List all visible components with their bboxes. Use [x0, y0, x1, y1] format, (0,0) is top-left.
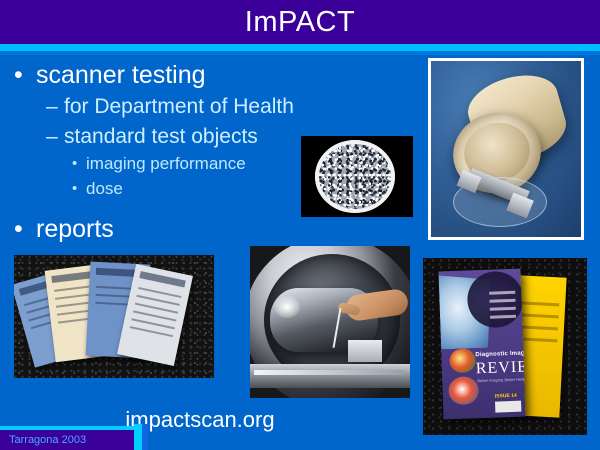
bullet-list: • scanner testing – for Department of He…	[0, 55, 330, 244]
ct-noise-image	[301, 136, 413, 217]
ct-noise-speckle	[319, 144, 391, 209]
bullet-label: scanner testing	[36, 61, 206, 89]
scanner-couch	[250, 364, 410, 388]
bullet-imaging-performance: • imaging performance	[0, 152, 330, 175]
magazine-logo-upper	[449, 348, 476, 373]
scanner-couch-rail	[254, 370, 404, 375]
bullet-dose: • dose	[0, 177, 330, 200]
bullet-for-department-of-health: – for Department of Health	[0, 93, 330, 120]
reports-documents-image	[14, 255, 214, 378]
ct-scanner-image	[250, 246, 410, 398]
bullet-label: reports	[36, 215, 114, 243]
magazine-cover-badge	[495, 401, 521, 413]
magazine-cover-title-large: REVIEW	[476, 358, 526, 377]
bullet-standard-test-objects: – standard test objects	[0, 123, 330, 150]
bullet-marker-icon: •	[14, 60, 23, 90]
dash-marker-icon: –	[46, 93, 58, 120]
bullet-marker-icon: •	[14, 214, 23, 244]
accent-band-cyan	[0, 44, 600, 51]
magazine-cover-subtitle: Better Imaging Better Health UK	[477, 376, 525, 383]
page-title: ImPACT	[0, 2, 600, 42]
scanner-specular-highlight	[274, 296, 300, 318]
magazine-cover-title-small: Diagnostic Imaging	[475, 350, 525, 358]
magazine-cover-issue: ISSUE 14	[495, 393, 517, 400]
report-header-block	[139, 271, 185, 287]
footer-accent-bar-cyan	[134, 424, 142, 450]
bullet-label: imaging performance	[86, 154, 246, 173]
conference-label: Tarragona 2003	[9, 432, 86, 448]
footer-accent-bar-blue	[142, 424, 148, 450]
phantom-cylinder-image	[428, 58, 584, 240]
bullet-reports: • reports	[0, 214, 330, 244]
magazine-image: Diagnostic Imaging REVIEW Better Imaging…	[423, 258, 587, 435]
scanner-dose-meter	[348, 340, 382, 362]
magazine-front-cover: Diagnostic Imaging REVIEW Better Imaging…	[438, 269, 525, 420]
bullet-label: standard test objects	[64, 125, 258, 148]
bullet-marker-icon: •	[72, 177, 77, 200]
bullet-label: dose	[86, 179, 123, 198]
bullet-label: for Department of Health	[64, 95, 294, 118]
slide-root: ImPACT • scanner testing – for Departmen…	[0, 0, 600, 450]
dash-marker-icon: –	[46, 123, 58, 150]
bullet-marker-icon: •	[72, 152, 77, 175]
bullet-scanner-testing: • scanner testing	[0, 60, 330, 90]
ct-noise-disc	[315, 140, 395, 213]
magazine-logo-lower	[448, 376, 479, 405]
